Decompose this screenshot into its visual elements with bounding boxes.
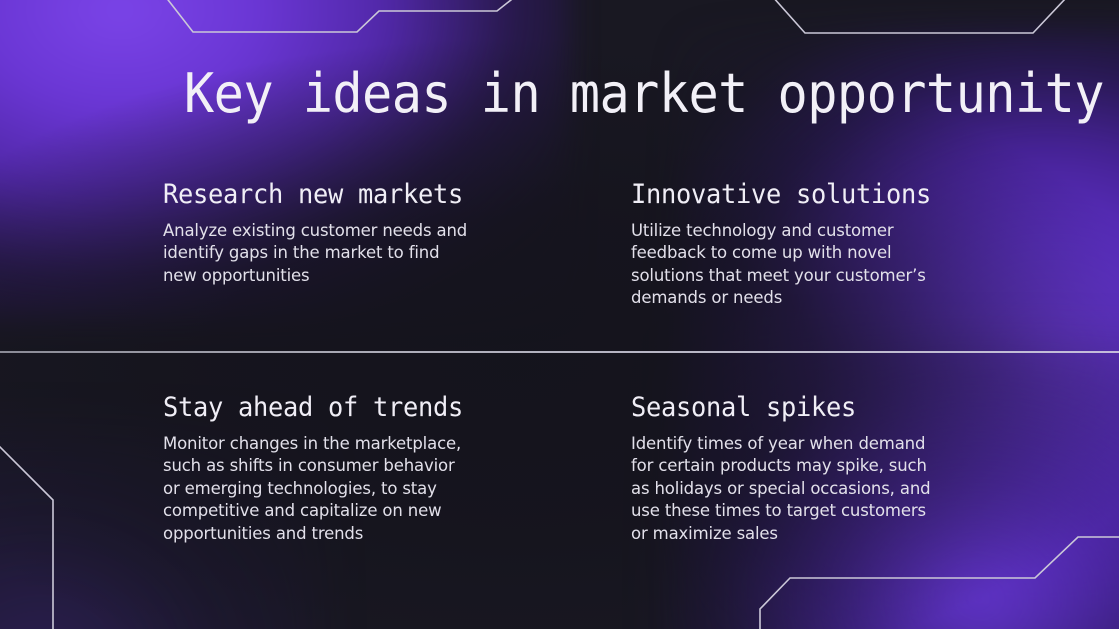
idea-body: Monitor changes in the marketplace, such… [163,433,593,545]
frame-line-bottom-left [0,443,53,629]
idea-heading: Stay ahead of trends [163,393,567,423]
idea-heading: Innovative solutions [631,180,1035,210]
idea-body: Analyze existing customer needs and iden… [163,220,583,287]
page-title: Key ideas in market opportunity [184,62,1104,125]
slide-canvas: Key ideas in market opportunity Research… [0,0,1119,629]
idea-body: Identify times of year when demand for c… [631,433,1061,545]
idea-heading: Research new markets [163,180,558,210]
idea-card-research-new-markets: Research new markets Analyze existing cu… [163,180,583,287]
idea-card-stay-ahead-of-trends: Stay ahead of trends Monitor changes in … [163,393,593,545]
frame-line-bottom-right [760,537,1119,629]
idea-card-innovative-solutions: Innovative solutions Utilize technology … [631,180,1061,310]
idea-body: Utilize technology and customer feedback… [631,220,1061,310]
row-divider [0,351,1119,353]
frame-line-top-left [165,0,516,32]
idea-card-seasonal-spikes: Seasonal spikes Identify times of year w… [631,393,1061,545]
idea-heading: Seasonal spikes [631,393,1035,423]
frame-line-top-right [772,0,1066,33]
